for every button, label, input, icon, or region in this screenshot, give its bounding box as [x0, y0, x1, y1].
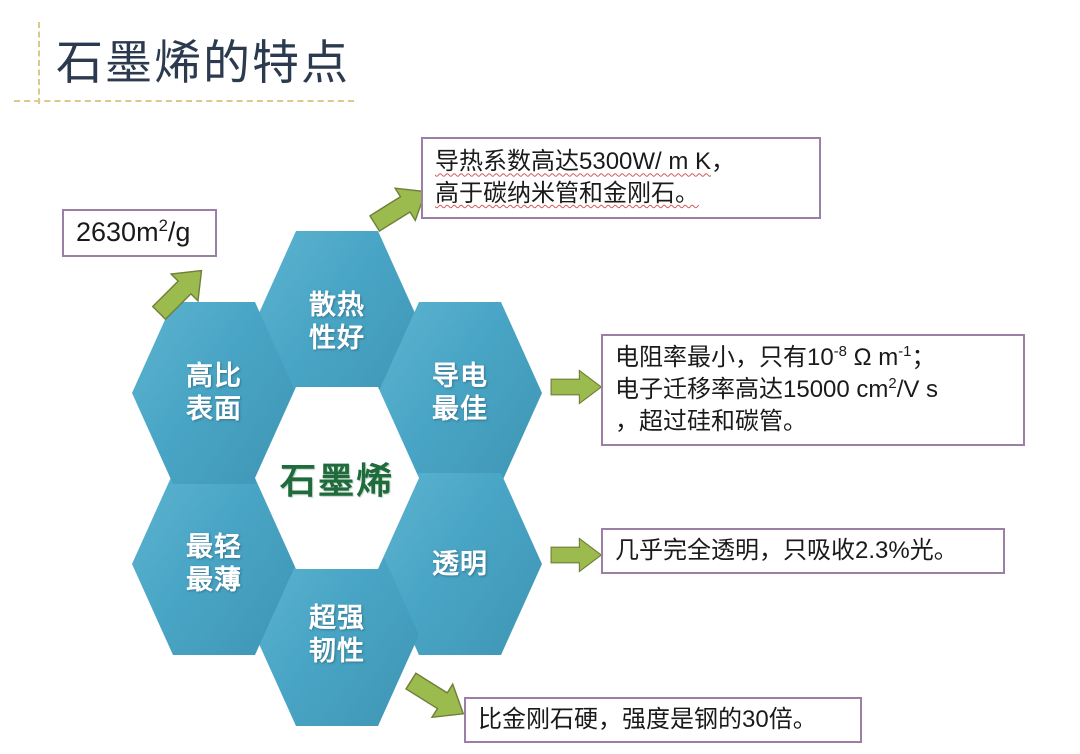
arrow-to-surface-area-callout	[146, 256, 216, 326]
thermal-line1-comma: ，	[711, 148, 735, 175]
callout-line: 几乎完全透明，只吸收2.3%光。	[615, 535, 991, 567]
electrical-line1-exponent2: -1	[898, 344, 911, 360]
callout-line: 比金刚石硬，强度是钢的30倍。	[478, 704, 848, 736]
surface-area-unit-tail: /g	[168, 217, 191, 247]
surface-area-unit-exponent: 2	[159, 216, 168, 235]
electrical-line2-b: /V s	[897, 376, 938, 403]
callout-thermal-conductivity: 导热系数高达5300W/ m K， 高于碳纳米管和金刚石。	[421, 137, 821, 219]
electrical-line2-exponent: 2	[888, 376, 896, 392]
hexagon-label: 高比 表面	[186, 360, 242, 426]
callout-line: 导热系数高达5300W/ m K，	[435, 146, 807, 178]
hexagon-label: 透明	[432, 548, 488, 581]
arrow-to-electrical-callout	[548, 365, 606, 409]
callout-transparency: 几乎完全透明，只吸收2.3%光。	[601, 528, 1005, 574]
electrical-line1-a: 电阻率最小，只有10	[615, 344, 834, 371]
title-dashed-horizontal-rule	[14, 100, 354, 102]
callout-specific-surface-area: 2630m2/g	[62, 209, 217, 257]
electrical-line2-a: 电子迁移率高达15000 cm	[615, 376, 888, 403]
electrical-line1-exponent: -8	[834, 344, 847, 360]
surface-area-unit-base: m	[136, 217, 159, 247]
title-block: 石墨烯的特点	[0, 0, 520, 120]
callout-line: 电阻率最小，只有10-8 Ω m-1；	[615, 342, 1011, 374]
hexagon-center-label: 石墨烯	[280, 452, 394, 504]
arrow-to-transparency-callout	[548, 533, 606, 577]
callout-line: ，超过硅和碳管。	[615, 406, 1011, 438]
callout-strength: 比金刚石硬，强度是钢的30倍。	[464, 697, 862, 743]
callout-electrical-properties: 电阻率最小，只有10-8 Ω m-1； 电子迁移率高达15000 cm2/V s…	[601, 334, 1025, 446]
hexagon-label: 导电 最佳	[432, 360, 488, 426]
electrical-line1-b: Ω m	[847, 344, 898, 371]
title-dashed-vertical-rule	[38, 22, 40, 104]
hexagon-label: 超强 韧性	[309, 602, 365, 668]
callout-line: 2630m2/g	[76, 215, 203, 251]
hexagon-label: 最轻 最薄	[186, 531, 242, 597]
electrical-line1-c: ；	[911, 344, 935, 371]
page-title: 石墨烯的特点	[56, 24, 350, 93]
thermal-line1-text: 导热系数高达5300W/ m K	[435, 148, 711, 175]
callout-line: 电子迁移率高达15000 cm2/V s	[615, 374, 1011, 406]
slide-canvas: 石墨烯的特点 散热 性好 导电 最佳 透明 超强 韧性 最轻 最薄 高比 表面 …	[0, 0, 1080, 754]
hexagon-label: 散热 性好	[309, 289, 365, 355]
callout-line: 高于碳纳米管和金刚石。	[435, 178, 807, 210]
surface-area-value: 2630	[76, 217, 136, 247]
